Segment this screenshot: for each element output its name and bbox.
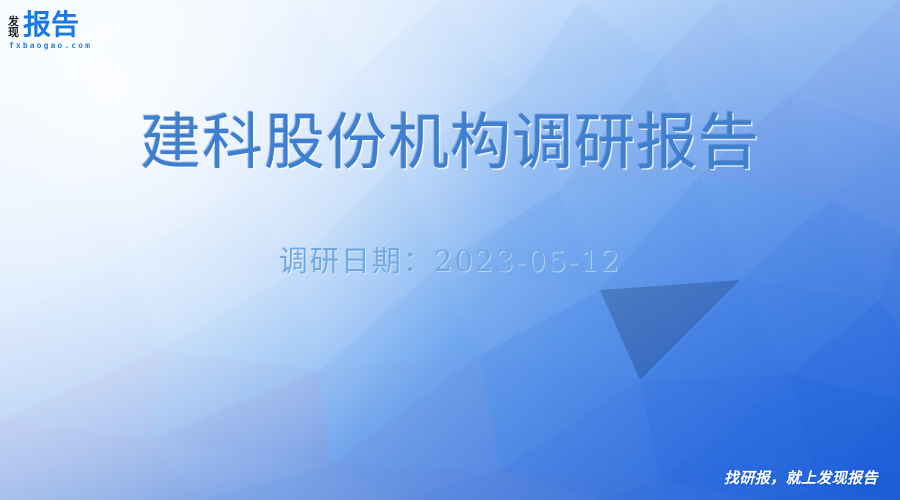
logo-url: fxbaogao.com (9, 41, 158, 50)
report-cover-slide: 发 现 报告 fxbaogao.com 建科股份机构调研报告 调研日期：2023… (0, 0, 900, 500)
page-title: 建科股份机构调研报告 (0, 92, 900, 181)
logo-wordmark: 报告 (23, 11, 79, 39)
logo-wordmark-row: 发 现 报告 (8, 8, 158, 39)
footer-tagline: 找研报，就上发现报告 (724, 467, 878, 488)
logo-char-xian: 现 (8, 27, 19, 38)
survey-date-subtitle: 调研日期：2023-05-12 (0, 238, 900, 280)
logo-stacked-characters: 发 现 (8, 16, 19, 39)
fxbaogao-logo[interactable]: 发 现 报告 fxbaogao.com (8, 8, 158, 56)
